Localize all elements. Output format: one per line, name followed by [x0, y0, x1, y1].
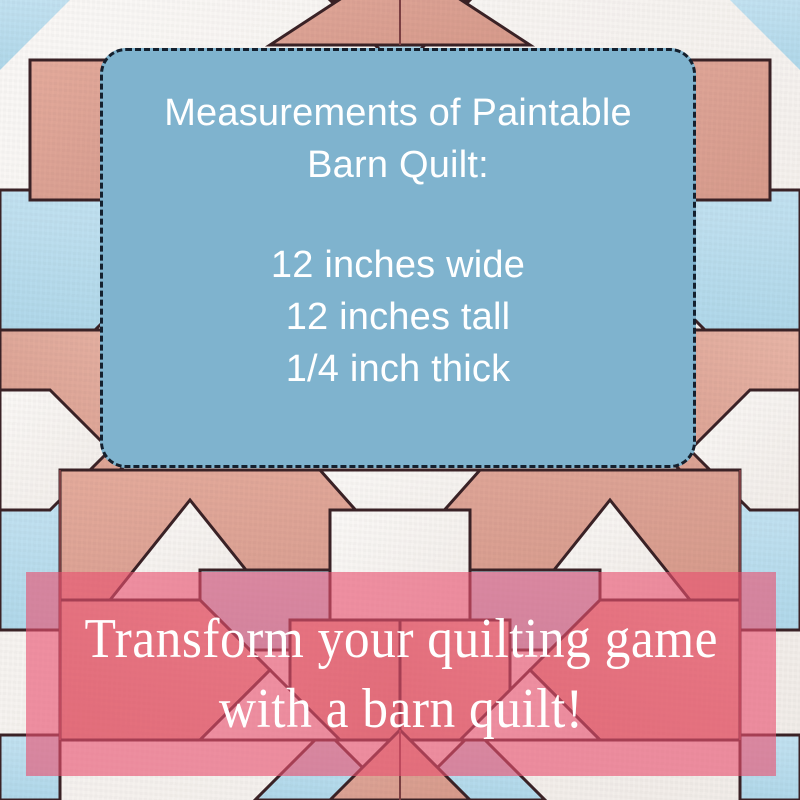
- promo-line-1: Transform your quilting game: [84, 604, 717, 674]
- measurements-card: Measurements of Paintable Barn Quilt: 12…: [100, 48, 696, 468]
- spec-width: 12 inches wide: [271, 239, 525, 291]
- marketing-image: Measurements of Paintable Barn Quilt: 12…: [0, 0, 800, 800]
- measurements-list: 12 inches wide 12 inches tall 1/4 inch t…: [271, 239, 525, 395]
- measurements-title: Measurements of Paintable Barn Quilt:: [138, 87, 658, 191]
- promo-banner: Transform your quilting game with a barn…: [26, 572, 776, 776]
- spec-thickness: 1/4 inch thick: [271, 343, 525, 395]
- spec-height: 12 inches tall: [271, 291, 525, 343]
- promo-line-2: with a barn quilt!: [219, 674, 584, 744]
